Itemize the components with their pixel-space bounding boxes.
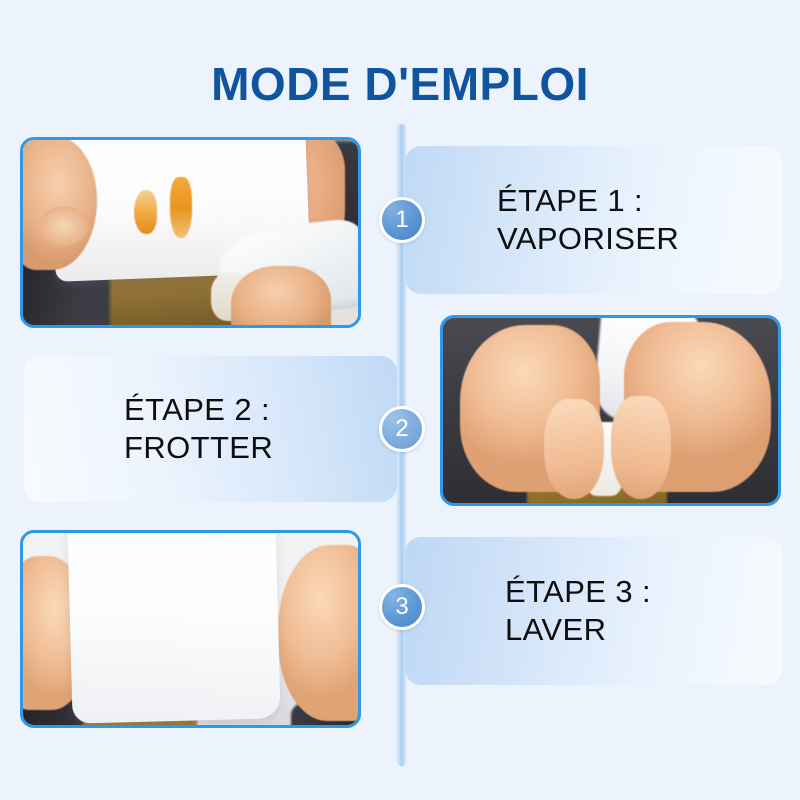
photo-hand-right — [231, 266, 332, 325]
step-3-label: ÉTAPE 3 : LAVER — [505, 573, 651, 649]
step-3-photo — [20, 530, 361, 728]
step-2-badge: 2 — [379, 406, 425, 452]
photo-clean-white-shirt — [67, 533, 280, 724]
step-1-panel: ÉTAPE 1 : VAPORISER — [405, 146, 782, 294]
photo-finger-right — [611, 396, 671, 500]
step-3-panel: ÉTAPE 3 : LAVER — [405, 537, 782, 685]
step-1-badge-number: 1 — [395, 208, 408, 232]
step-1-badge: 1 — [379, 197, 425, 243]
photo-finger-left — [544, 399, 604, 499]
photo-orange-stain-a — [134, 190, 157, 234]
step-2-label: ÉTAPE 2 : FROTTER — [124, 391, 273, 467]
step-3-photo-scene — [23, 533, 358, 725]
step-1-photo — [20, 137, 361, 328]
step-3-badge: 3 — [379, 584, 425, 630]
infographic-canvas: MODE D'EMPLOI ÉTAPE 1 : VAPORISER 1 — [0, 0, 800, 800]
step-3-badge-number: 3 — [395, 595, 408, 619]
page-title: MODE D'EMPLOI — [0, 58, 800, 110]
step-1-photo-scene — [23, 140, 358, 325]
step-2-panel: ÉTAPE 2 : FROTTER — [24, 356, 397, 502]
step-1-label: ÉTAPE 1 : VAPORISER — [497, 182, 679, 258]
step-2-photo — [440, 315, 781, 506]
step-2-badge-number: 2 — [395, 417, 408, 441]
step-2-photo-scene — [443, 318, 778, 503]
photo-orange-stain-b — [170, 177, 192, 238]
